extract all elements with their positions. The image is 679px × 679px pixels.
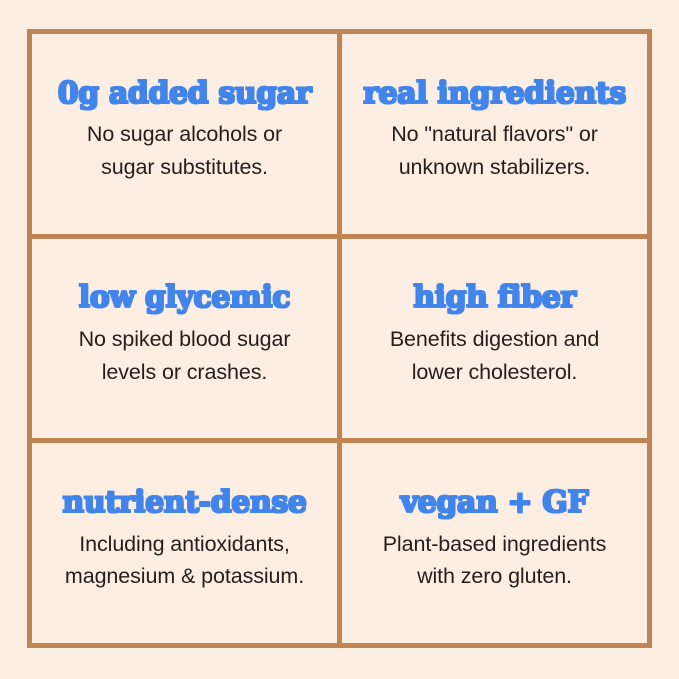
- benefit-description-line: lower cholesterol.: [390, 356, 599, 389]
- benefit-cell-high-fiber: high fiber Benefits digestion and lower …: [342, 239, 647, 439]
- benefit-description-line: Benefits digestion and: [390, 323, 599, 356]
- benefit-description-line: No sugar alcohols or: [87, 118, 282, 151]
- benefit-description-line: levels or crashes.: [79, 356, 291, 389]
- benefit-cell-nutrient-dense: nutrient-dense Including antioxidants, m…: [32, 443, 337, 643]
- benefit-heading: real ingredients: [363, 78, 626, 110]
- benefit-description: No "natural flavors" or unknown stabiliz…: [391, 118, 598, 184]
- benefit-description-line: Including antioxidants,: [65, 528, 304, 561]
- benefits-grid: 0g added sugar No sugar alcohols or suga…: [27, 29, 652, 648]
- benefit-description-line: No spiked blood sugar: [79, 323, 291, 356]
- benefit-description-line: Plant-based ingredients: [383, 528, 607, 561]
- benefit-description-line: with zero gluten.: [383, 560, 607, 593]
- benefit-cell-0g-added-sugar: 0g added sugar No sugar alcohols or suga…: [32, 34, 337, 234]
- benefit-cell-real-ingredients: real ingredients No "natural flavors" or…: [342, 34, 647, 234]
- benefit-cell-low-glycemic: low glycemic No spiked blood sugar level…: [32, 239, 337, 439]
- benefit-description-line: No "natural flavors" or: [391, 118, 598, 151]
- benefit-heading: 0g added sugar: [58, 78, 312, 110]
- benefit-description-line: unknown stabilizers.: [391, 151, 598, 184]
- benefit-description: No sugar alcohols or sugar substitutes.: [87, 118, 282, 184]
- benefit-description: No spiked blood sugar levels or crashes.: [79, 323, 291, 389]
- benefit-description: Including antioxidants, magnesium & pota…: [65, 528, 304, 594]
- benefit-description-line: sugar substitutes.: [87, 151, 282, 184]
- benefit-cell-vegan-gf: vegan + GF Plant-based ingredients with …: [342, 443, 647, 643]
- benefit-heading: vegan + GF: [401, 487, 589, 519]
- benefit-heading: high fiber: [413, 282, 576, 314]
- benefit-description: Plant-based ingredients with zero gluten…: [383, 528, 607, 594]
- benefit-heading: nutrient-dense: [62, 487, 306, 519]
- benefit-description: Benefits digestion and lower cholesterol…: [390, 323, 599, 389]
- benefit-heading: low glycemic: [79, 282, 290, 314]
- benefit-description-line: magnesium & potassium.: [65, 560, 304, 593]
